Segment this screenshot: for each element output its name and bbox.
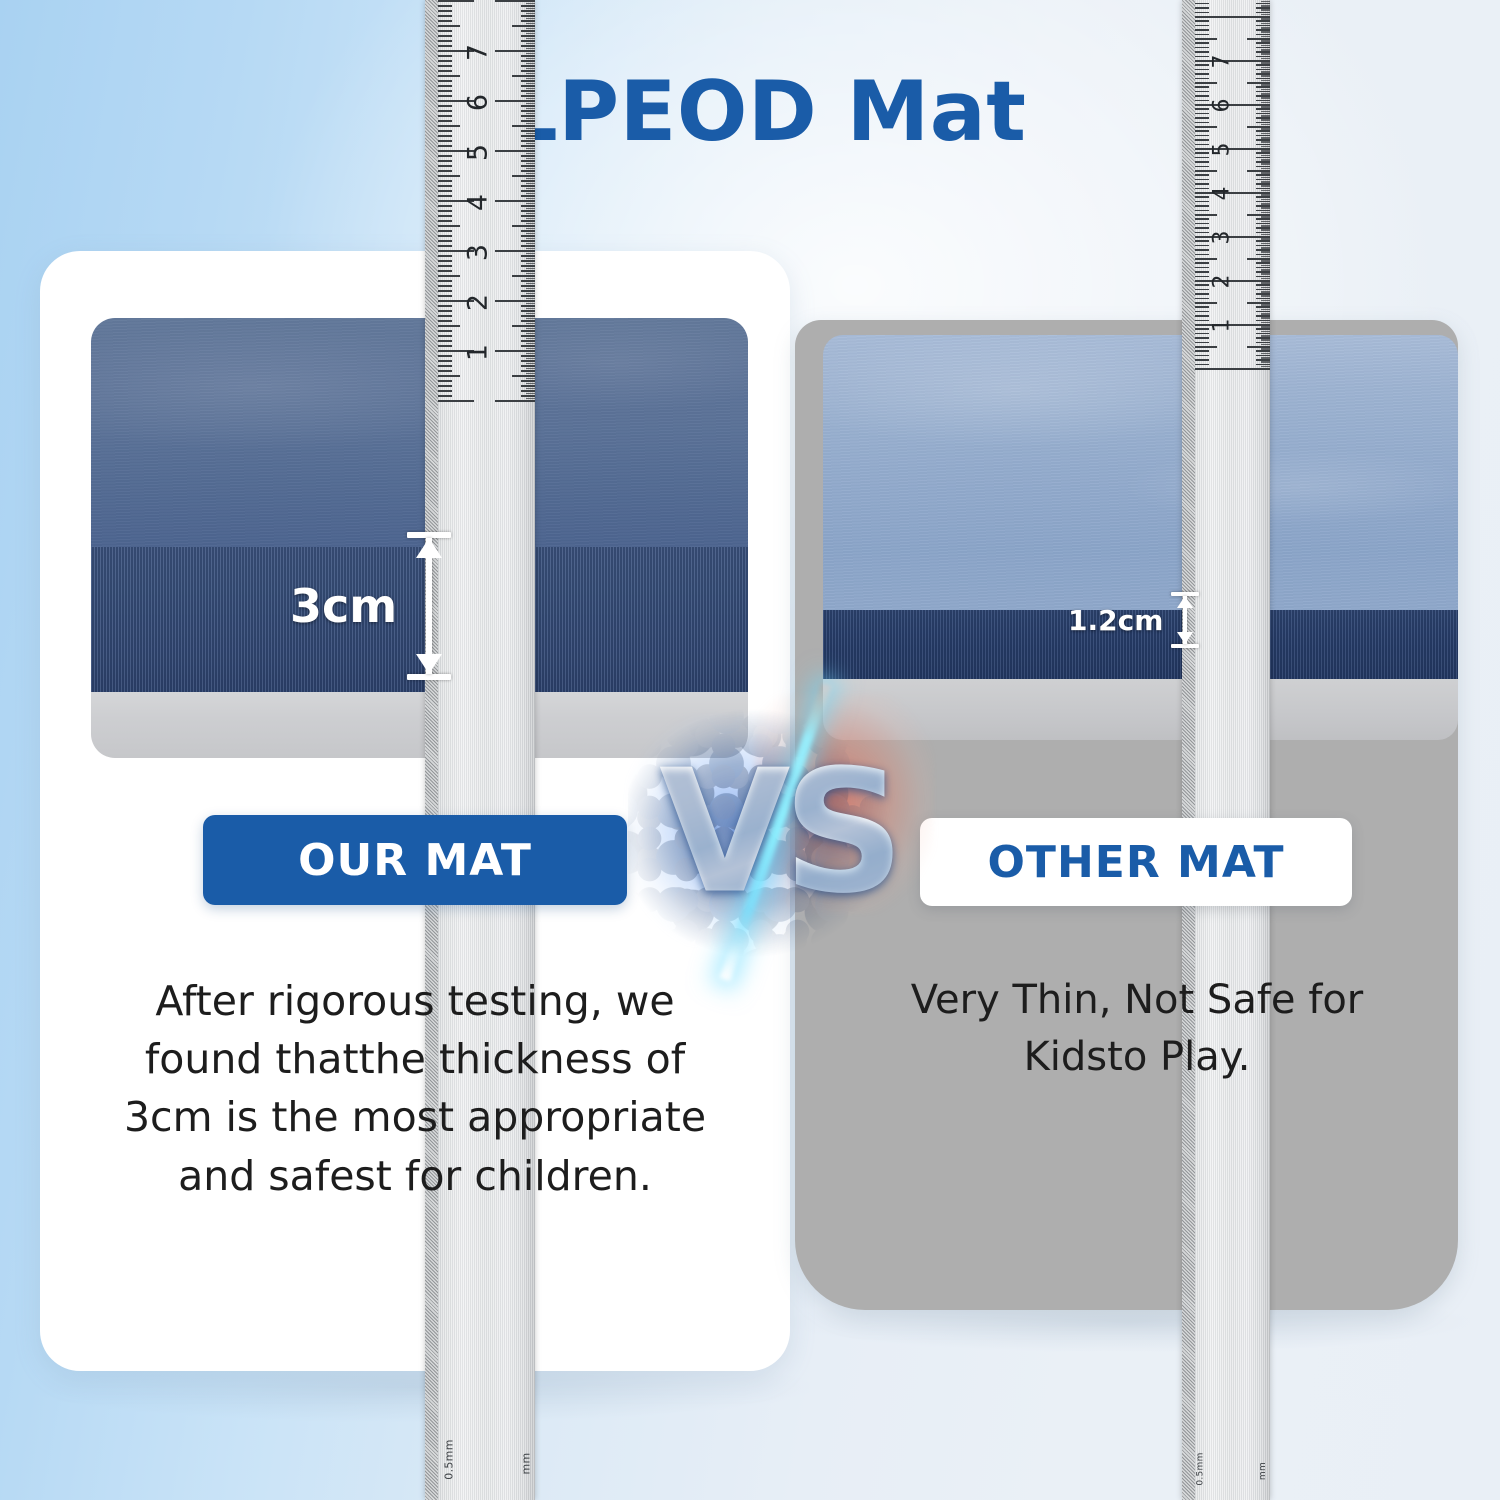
ruler-tick-fine (526, 223, 535, 225)
ruler-tick-fine (1261, 84, 1270, 86)
ruler-tick-fine (526, 243, 535, 245)
ruler-tick-fine (1261, 212, 1270, 214)
ruler-tick (521, 205, 535, 207)
ruler-tick-fine (526, 23, 535, 25)
ruler-tick (521, 370, 535, 372)
arrow-head-down-icon (416, 654, 442, 674)
ruler-tick (438, 170, 452, 172)
ruler-tick-fine (526, 13, 535, 15)
ruler-tick (1195, 82, 1217, 84)
ruler-tick (1195, 117, 1209, 119)
ruler-tick-fine (526, 218, 535, 220)
ruler-tick-fine (1261, 243, 1270, 245)
ruler-tick (1195, 276, 1209, 278)
ruler-tick (1195, 284, 1209, 286)
ruler-tick (521, 240, 535, 242)
ruler-tick-fine (526, 143, 535, 145)
ruler-tick (521, 260, 535, 262)
ruler-tick (438, 315, 452, 317)
ruler-tick-fine (1261, 287, 1270, 289)
ruler-tick (438, 40, 452, 42)
ruler-tick-fine (526, 113, 535, 115)
ruler-tick-fine (526, 133, 535, 135)
ruler-tick (438, 215, 452, 217)
ruler-tick (438, 235, 452, 237)
ruler-tick (438, 370, 452, 372)
ruler-tick (521, 20, 535, 22)
ruler-tick (438, 245, 452, 247)
ruler-tick (521, 280, 535, 282)
ruler-tick (1195, 56, 1209, 58)
ruler-tick-fine (526, 338, 535, 340)
ruler-tick (438, 310, 452, 312)
ruler-tick-fine (1261, 141, 1270, 143)
ruler-tick (1195, 249, 1209, 251)
ruler-tick (521, 385, 535, 387)
ruler-tick-fine (1261, 62, 1270, 64)
ruler-tick (438, 140, 452, 142)
ruler-tick-fine (526, 83, 535, 85)
ruler-tick (1195, 130, 1209, 132)
ruler-tick-fine (1261, 133, 1270, 135)
ruler-tick-fine (1261, 221, 1270, 223)
ruler-tick (438, 110, 452, 112)
ruler-tick (521, 265, 535, 267)
ruler-tick-fine (526, 153, 535, 155)
ruler-tick (1195, 38, 1217, 40)
ruler-tick (1195, 223, 1209, 225)
ruler-tick (521, 80, 535, 82)
ruler-tick (438, 230, 452, 232)
ruler-tick (438, 360, 452, 362)
ruler-tick (521, 290, 535, 292)
ruler-tick-fine (1261, 124, 1270, 126)
ruler-tick (438, 285, 452, 287)
ruler-tick (1195, 20, 1209, 22)
ruler-tick (495, 150, 535, 152)
ruler-tick (521, 30, 535, 32)
ruler-tick (495, 200, 535, 202)
ruler-tick-fine (526, 358, 535, 360)
ruler-tick (521, 195, 535, 197)
ruler-tick-fine (1261, 27, 1270, 29)
ruler-tick-fine (1261, 137, 1270, 139)
ruler-tick-fine (526, 3, 535, 5)
ruler-tick (438, 120, 452, 122)
ruler-tick-fine (526, 313, 535, 315)
ruler-number: 2 (462, 282, 493, 322)
ruler-tick (521, 140, 535, 142)
ruler-tick-fine (1261, 31, 1270, 33)
ruler-tick-fine (1261, 45, 1270, 47)
ruler-tick (521, 70, 535, 72)
ruler-tick (1195, 126, 1217, 128)
ruler-tick-fine (526, 48, 535, 50)
other-mat-measurement: 1.2cm (1068, 592, 1188, 648)
ruler-tick (521, 5, 535, 7)
ruler-tick (521, 65, 535, 67)
ruler-tick-fine (1261, 181, 1270, 183)
our-mat-badge: OUR MAT (203, 815, 627, 905)
ruler-tick (1195, 78, 1209, 80)
arrow-head-up-icon-2 (1177, 596, 1193, 608)
ruler-tick-fine (526, 393, 535, 395)
ruler-tick-fine (526, 33, 535, 35)
ruler-tick-fine (526, 148, 535, 150)
ruler-tick (1195, 69, 1209, 71)
ruler-tick-fine (1261, 93, 1270, 95)
ruler-tick-fine (1261, 326, 1270, 328)
ruler-tick (1195, 245, 1209, 247)
ruler-tick-fine (526, 178, 535, 180)
ruler-tick-fine (526, 308, 535, 310)
ruler-tick (438, 225, 460, 227)
ruler-tick (521, 295, 535, 297)
ruler-tick (1195, 73, 1209, 75)
ruler-tick-fine (526, 278, 535, 280)
ruler-tick (438, 145, 452, 147)
ruler-tick (1195, 174, 1209, 176)
ruler-tick-fine (1261, 40, 1270, 42)
ruler-tick (1195, 214, 1217, 216)
arrow-shaft (426, 538, 432, 674)
ruler-tick (438, 115, 452, 117)
ruler-tick (1195, 298, 1209, 300)
ruler-tick (438, 90, 452, 92)
ruler-tick (438, 330, 452, 332)
ruler-tick-fine (526, 188, 535, 190)
ruler-tick (521, 355, 535, 357)
ruler-tick-fine (526, 383, 535, 385)
ruler-tick-fine (1261, 14, 1270, 16)
ruler-tick-fine (1261, 278, 1270, 280)
ruler-tick-fine (1261, 247, 1270, 249)
ruler-tick (438, 135, 452, 137)
ruler-tick (521, 320, 535, 322)
ruler-tick (438, 395, 452, 397)
ruler-tick-fine (526, 183, 535, 185)
ruler-tick (438, 290, 452, 292)
ruler-tick (521, 390, 535, 392)
ruler-tick-fine (1261, 163, 1270, 165)
ruler-tick (1195, 34, 1209, 36)
ruler-tick (1230, 368, 1270, 370)
ruler-tick-fine (1261, 5, 1270, 7)
ruler-tick-fine (526, 8, 535, 10)
other-mat-photo (823, 335, 1458, 740)
ruler-tick (1195, 293, 1209, 295)
ruler-tick-fine (1261, 273, 1270, 275)
ruler-tick-fine (1261, 119, 1270, 121)
ruler-tick-fine (1261, 97, 1270, 99)
ruler-left: 1234567 0.5mm mm (425, 0, 535, 1500)
ruler-tick-fine (1261, 190, 1270, 192)
ruler-tick (521, 145, 535, 147)
ruler-tick (521, 35, 535, 37)
ruler-tick (1195, 108, 1209, 110)
other-mat-measurement-label: 1.2cm (1068, 604, 1163, 637)
ruler-tick (521, 45, 535, 47)
ruler-tick (521, 40, 535, 42)
ruler-tick (521, 330, 535, 332)
ruler-tick-fine (1261, 225, 1270, 227)
ruler-tick (438, 340, 452, 342)
ruler-tick-fine (1261, 317, 1270, 319)
ruler-number: 5 (1210, 133, 1235, 167)
ruler-tick (521, 185, 535, 187)
ruler-tick (1195, 166, 1209, 168)
ruler-tick-fine (1261, 106, 1270, 108)
ruler-tick-fine (1261, 256, 1270, 258)
ruler-number: 4 (462, 182, 493, 222)
ruler-tick (1195, 170, 1217, 172)
ruler-knurl-left-2 (1182, 0, 1195, 1500)
ruler-tick (438, 85, 452, 87)
ruler-ticks-right (495, 0, 535, 1500)
ruler-tick (495, 250, 535, 252)
ruler-tick (438, 185, 452, 187)
ruler-tick (438, 205, 452, 207)
ruler-number: 3 (462, 232, 493, 272)
ruler-tick-fine (1261, 128, 1270, 130)
ruler-tick (521, 55, 535, 57)
ruler-tick-fine (526, 293, 535, 295)
ruler-tick (1195, 333, 1209, 335)
ruler-tick (438, 385, 452, 387)
ruler-tick (495, 0, 535, 2)
ruler-number: 3 (1210, 221, 1235, 255)
ruler-tick (1195, 368, 1231, 370)
ruler-tick-fine (1261, 353, 1270, 355)
ruler-tick-fine (526, 28, 535, 30)
ruler-tick (438, 60, 452, 62)
ruler-tick (1195, 364, 1209, 366)
ruler-tick (1195, 342, 1209, 344)
ruler-tick-fine (526, 398, 535, 400)
ruler-tick-fine (526, 98, 535, 100)
ruler-number: 1 (1210, 309, 1235, 343)
ruler-tick-fine (1261, 265, 1270, 267)
ruler-tick (438, 25, 460, 27)
ruler-tick (521, 340, 535, 342)
ruler-tick (438, 255, 452, 257)
ruler-tick (495, 400, 535, 402)
ruler-tick (1195, 86, 1209, 88)
ruler-tick (495, 50, 535, 52)
ruler-tick-fine (526, 173, 535, 175)
ruler-tick (1195, 346, 1217, 348)
ruler-tick-fine (526, 208, 535, 210)
ruler-tick (1195, 196, 1209, 198)
ruler-tick (438, 130, 452, 132)
ruler-tick-fine (1261, 58, 1270, 60)
ruler-tick (438, 20, 452, 22)
ruler-tick (1195, 210, 1209, 212)
ruler-number: 7 (462, 32, 493, 72)
ruler-tick (1195, 51, 1209, 53)
ruler-tick (521, 60, 535, 62)
ruler-tick (521, 155, 535, 157)
ruler-tick-fine (526, 108, 535, 110)
ruler-tick-fine (1261, 366, 1270, 368)
ruler-tick-fine (1261, 207, 1270, 209)
ruler-tick (521, 105, 535, 107)
ruler-tick (1195, 258, 1217, 260)
ruler-tick (512, 75, 535, 77)
ruler-tick-fine (526, 213, 535, 215)
ruler-tick (438, 195, 452, 197)
other-mat-surface-top (823, 335, 1458, 610)
our-mat-measurement: 3cm (290, 532, 430, 680)
ruler-tick (438, 165, 452, 167)
ruler-tick (1195, 254, 1209, 256)
ruler-tick-fine (526, 283, 535, 285)
ruler-tick (438, 70, 452, 72)
ruler-tick (521, 120, 535, 122)
ruler-tick (1195, 144, 1209, 146)
ruler-tick-fine (1261, 67, 1270, 69)
ruler-tick-fine (526, 73, 535, 75)
ruler-tick-fine (1261, 194, 1270, 196)
ruler-tick-fine (526, 128, 535, 130)
ruler-tick-fine (1261, 282, 1270, 284)
ruler-tick (438, 280, 452, 282)
ruler-tick-fine (1261, 102, 1270, 104)
ruler-tick-fine (1261, 361, 1270, 363)
ruler-tick-fine (1261, 172, 1270, 174)
ruler-tick (521, 190, 535, 192)
ruler-tick (1195, 240, 1209, 242)
ruler-tick (1195, 302, 1217, 304)
ruler-tick (438, 105, 452, 107)
ruler-micro-right-label: mm (519, 1452, 532, 1474)
ruler-tick (1195, 122, 1209, 124)
ruler-tick (512, 325, 535, 327)
ruler-tick (512, 375, 535, 377)
ruler-tick (1195, 218, 1209, 220)
ruler-number: 2 (1210, 265, 1235, 299)
ruler-tick (438, 65, 452, 67)
ruler-tick (521, 285, 535, 287)
arrow-head-up-icon (416, 538, 442, 558)
ruler-tick (495, 100, 535, 102)
ruler-tick-fine (526, 298, 535, 300)
ruler-tick (521, 305, 535, 307)
ruler-tick (521, 380, 535, 382)
ruler-tick-fine (1261, 251, 1270, 253)
measurement-arrow (407, 532, 451, 680)
ruler-tick (1195, 16, 1231, 18)
ruler-tick (521, 220, 535, 222)
ruler-ticks-right-2 (1230, 0, 1270, 1500)
ruler-tick (521, 115, 535, 117)
ruler-tick-fine (526, 68, 535, 70)
ruler-tick-fine (1261, 357, 1270, 359)
ruler-tick (1195, 337, 1209, 339)
ruler-tick-fine (526, 258, 535, 260)
ruler-tick-fine (526, 348, 535, 350)
ruler-tick-fine (526, 368, 535, 370)
ruler-tick (521, 110, 535, 112)
ruler-tick (521, 215, 535, 217)
ruler-tick-fine (1261, 111, 1270, 113)
ruler-tick (1195, 188, 1209, 190)
ruler-tick (1195, 355, 1209, 357)
ruler-tick-fine (1261, 36, 1270, 38)
ruler-tick (521, 160, 535, 162)
ruler-tick (1195, 7, 1209, 9)
ruler-tick (438, 365, 452, 367)
ruler-tick (495, 300, 535, 302)
ruler-tick (438, 325, 460, 327)
ruler-tick (1195, 152, 1209, 154)
ruler-tick-fine (526, 328, 535, 330)
ruler-tick (512, 25, 535, 27)
ruler-tick (1195, 320, 1209, 322)
ruler-tick-fine (1261, 168, 1270, 170)
ruler-tick (438, 95, 452, 97)
ruler-tick (438, 375, 460, 377)
ruler-tick-fine (526, 53, 535, 55)
ruler-tick (1195, 91, 1209, 93)
ruler-tick-fine (1261, 234, 1270, 236)
ruler-tick-fine (526, 288, 535, 290)
ruler-tick-fine (526, 273, 535, 275)
ruler-tick (1195, 12, 1209, 14)
ruler-tick (1195, 262, 1209, 264)
ruler-tick (438, 15, 452, 17)
ruler-tick-fine (526, 163, 535, 165)
ruler-tick (1195, 161, 1209, 163)
ruler-tick (438, 155, 452, 157)
ruler-tick (1195, 100, 1209, 102)
ruler-tick (438, 390, 452, 392)
ruler-tick-fine (1261, 23, 1270, 25)
ruler-tick-fine (1261, 335, 1270, 337)
ruler-tick-fine (1261, 53, 1270, 55)
ruler-tick-fine (1261, 150, 1270, 152)
ruler-tick-fine (526, 198, 535, 200)
ruler-tick (438, 400, 474, 402)
ruler-tick (1195, 135, 1209, 137)
ruler-tick (1195, 47, 1209, 49)
ruler-tick-fine (526, 193, 535, 195)
ruler-tick (1195, 201, 1209, 203)
ruler-tick (438, 275, 460, 277)
ruler-tick-fine (526, 303, 535, 305)
ruler-micro-right-label-2: mm (1258, 1462, 1268, 1480)
ruler-tick (1195, 157, 1209, 159)
ruler-tick-fine (1261, 75, 1270, 77)
ruler-tick (438, 190, 452, 192)
ruler-tick (438, 5, 452, 7)
ruler-tick (1195, 289, 1209, 291)
ruler-ticks-left (438, 0, 474, 1500)
ruler-tick-fine (1261, 199, 1270, 201)
ruler-tick-fine (526, 233, 535, 235)
ruler-tick-fine (1261, 304, 1270, 306)
ruler-tick-fine (526, 63, 535, 65)
ruler-tick (438, 260, 452, 262)
ruler-tick (1195, 271, 1209, 273)
ruler-tick (1195, 306, 1209, 308)
ruler-tick (438, 355, 452, 357)
other-mat-badge: OTHER MAT (920, 818, 1352, 906)
ruler-tick-fine (1261, 238, 1270, 240)
ruler-tick (512, 275, 535, 277)
ruler-tick-fine (526, 363, 535, 365)
ruler-tick (438, 305, 452, 307)
